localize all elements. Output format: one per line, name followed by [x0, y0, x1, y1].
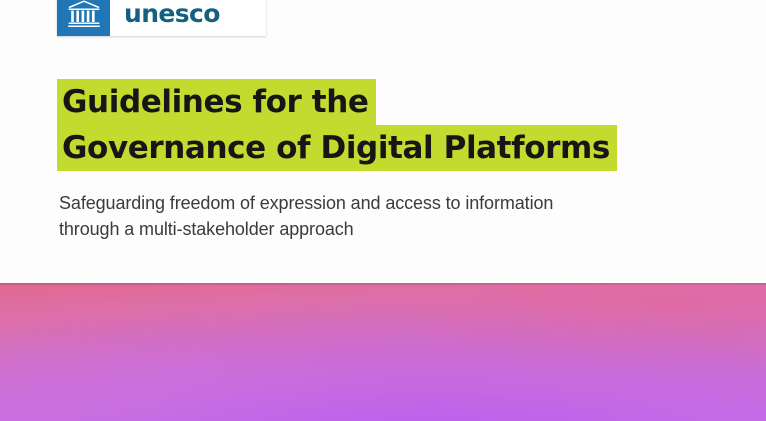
cover-gradient-artwork: [0, 283, 766, 421]
document-subtitle-line-1: Safeguarding freedom of expression and a…: [59, 190, 679, 216]
document-subtitle-line-2: through a multi-stakeholder approach: [59, 216, 679, 242]
cover-header-area: unesco Guidelines for the Governance of …: [0, 0, 766, 283]
gradient-sheen-overlay: [0, 283, 766, 421]
unesco-logo: unesco: [57, 0, 266, 36]
document-title: Guidelines for the Governance of Digital…: [57, 79, 697, 171]
document-title-line-1: Guidelines for the: [57, 79, 376, 125]
document-title-line-2: Governance of Digital Platforms: [57, 125, 617, 171]
unesco-temple-emblem-icon: [57, 0, 110, 36]
unesco-wordmark: unesco: [110, 0, 266, 36]
gradient-top-edge: [0, 283, 766, 285]
document-subtitle: Safeguarding freedom of expression and a…: [59, 190, 679, 242]
document-cover-page: unesco Guidelines for the Governance of …: [0, 0, 766, 421]
